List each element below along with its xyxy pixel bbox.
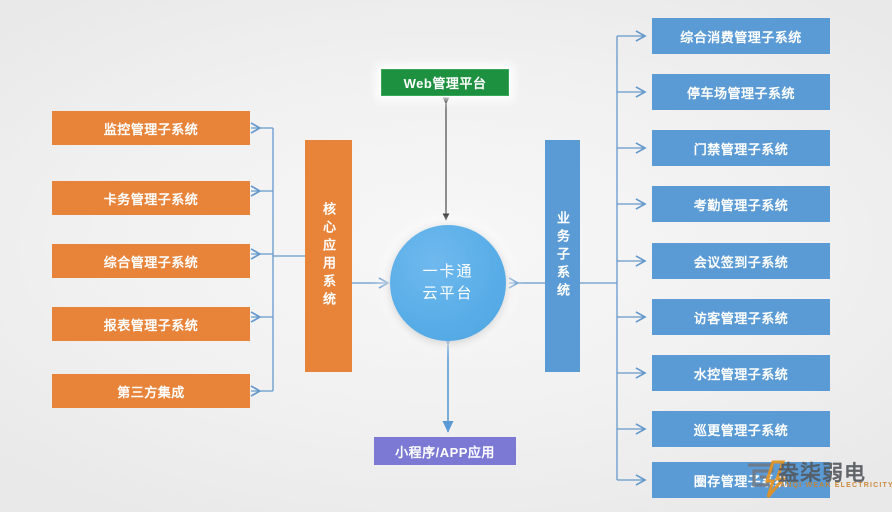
- left-node-integrated-management[interactable]: 综合管理子系统: [52, 244, 250, 278]
- right-node-attendance[interactable]: 考勤管理子系统: [652, 186, 830, 222]
- core-application-system-bar[interactable]: 核心应用系统: [305, 140, 352, 372]
- circle-label-line1: 一卡通: [422, 261, 473, 283]
- left-node-third-party[interactable]: 第三方集成: [52, 374, 250, 408]
- web-management-platform-box[interactable]: Web管理平台: [381, 69, 509, 96]
- left-node-monitoring[interactable]: 监控管理子系统: [52, 111, 250, 145]
- right-node-parking[interactable]: 停车场管理子系统: [652, 74, 830, 110]
- business-subsystem-bar[interactable]: 业务子系统: [545, 140, 580, 372]
- watermark-tagline: ANQI WEAK ELECTRICITY: [780, 482, 892, 489]
- watermark: 盎柒弱电 ANQI WEAK ELECTRICITY: [742, 455, 892, 505]
- left-node-card-service[interactable]: 卡务管理子系统: [52, 181, 250, 215]
- right-node-water-control[interactable]: 水控管理子系统: [652, 355, 830, 391]
- mini-program-app-box[interactable]: 小程序/APP应用: [374, 437, 516, 465]
- right-node-patrol[interactable]: 巡更管理子系统: [652, 411, 830, 447]
- right-node-meeting-signin[interactable]: 会议签到子系统: [652, 243, 830, 279]
- circle-label-line2: 云平台: [422, 283, 473, 305]
- left-node-report[interactable]: 报表管理子系统: [52, 307, 250, 341]
- one-card-cloud-platform-circle[interactable]: 一卡通 云平台: [390, 225, 506, 341]
- right-node-visitor[interactable]: 访客管理子系统: [652, 299, 830, 335]
- architecture-diagram: Web管理平台 监控管理子系统 卡务管理子系统 综合管理子系统 报表管理子系统 …: [0, 0, 892, 512]
- right-node-access-control[interactable]: 门禁管理子系统: [652, 130, 830, 166]
- right-node-consumption[interactable]: 综合消费管理子系统: [652, 18, 830, 54]
